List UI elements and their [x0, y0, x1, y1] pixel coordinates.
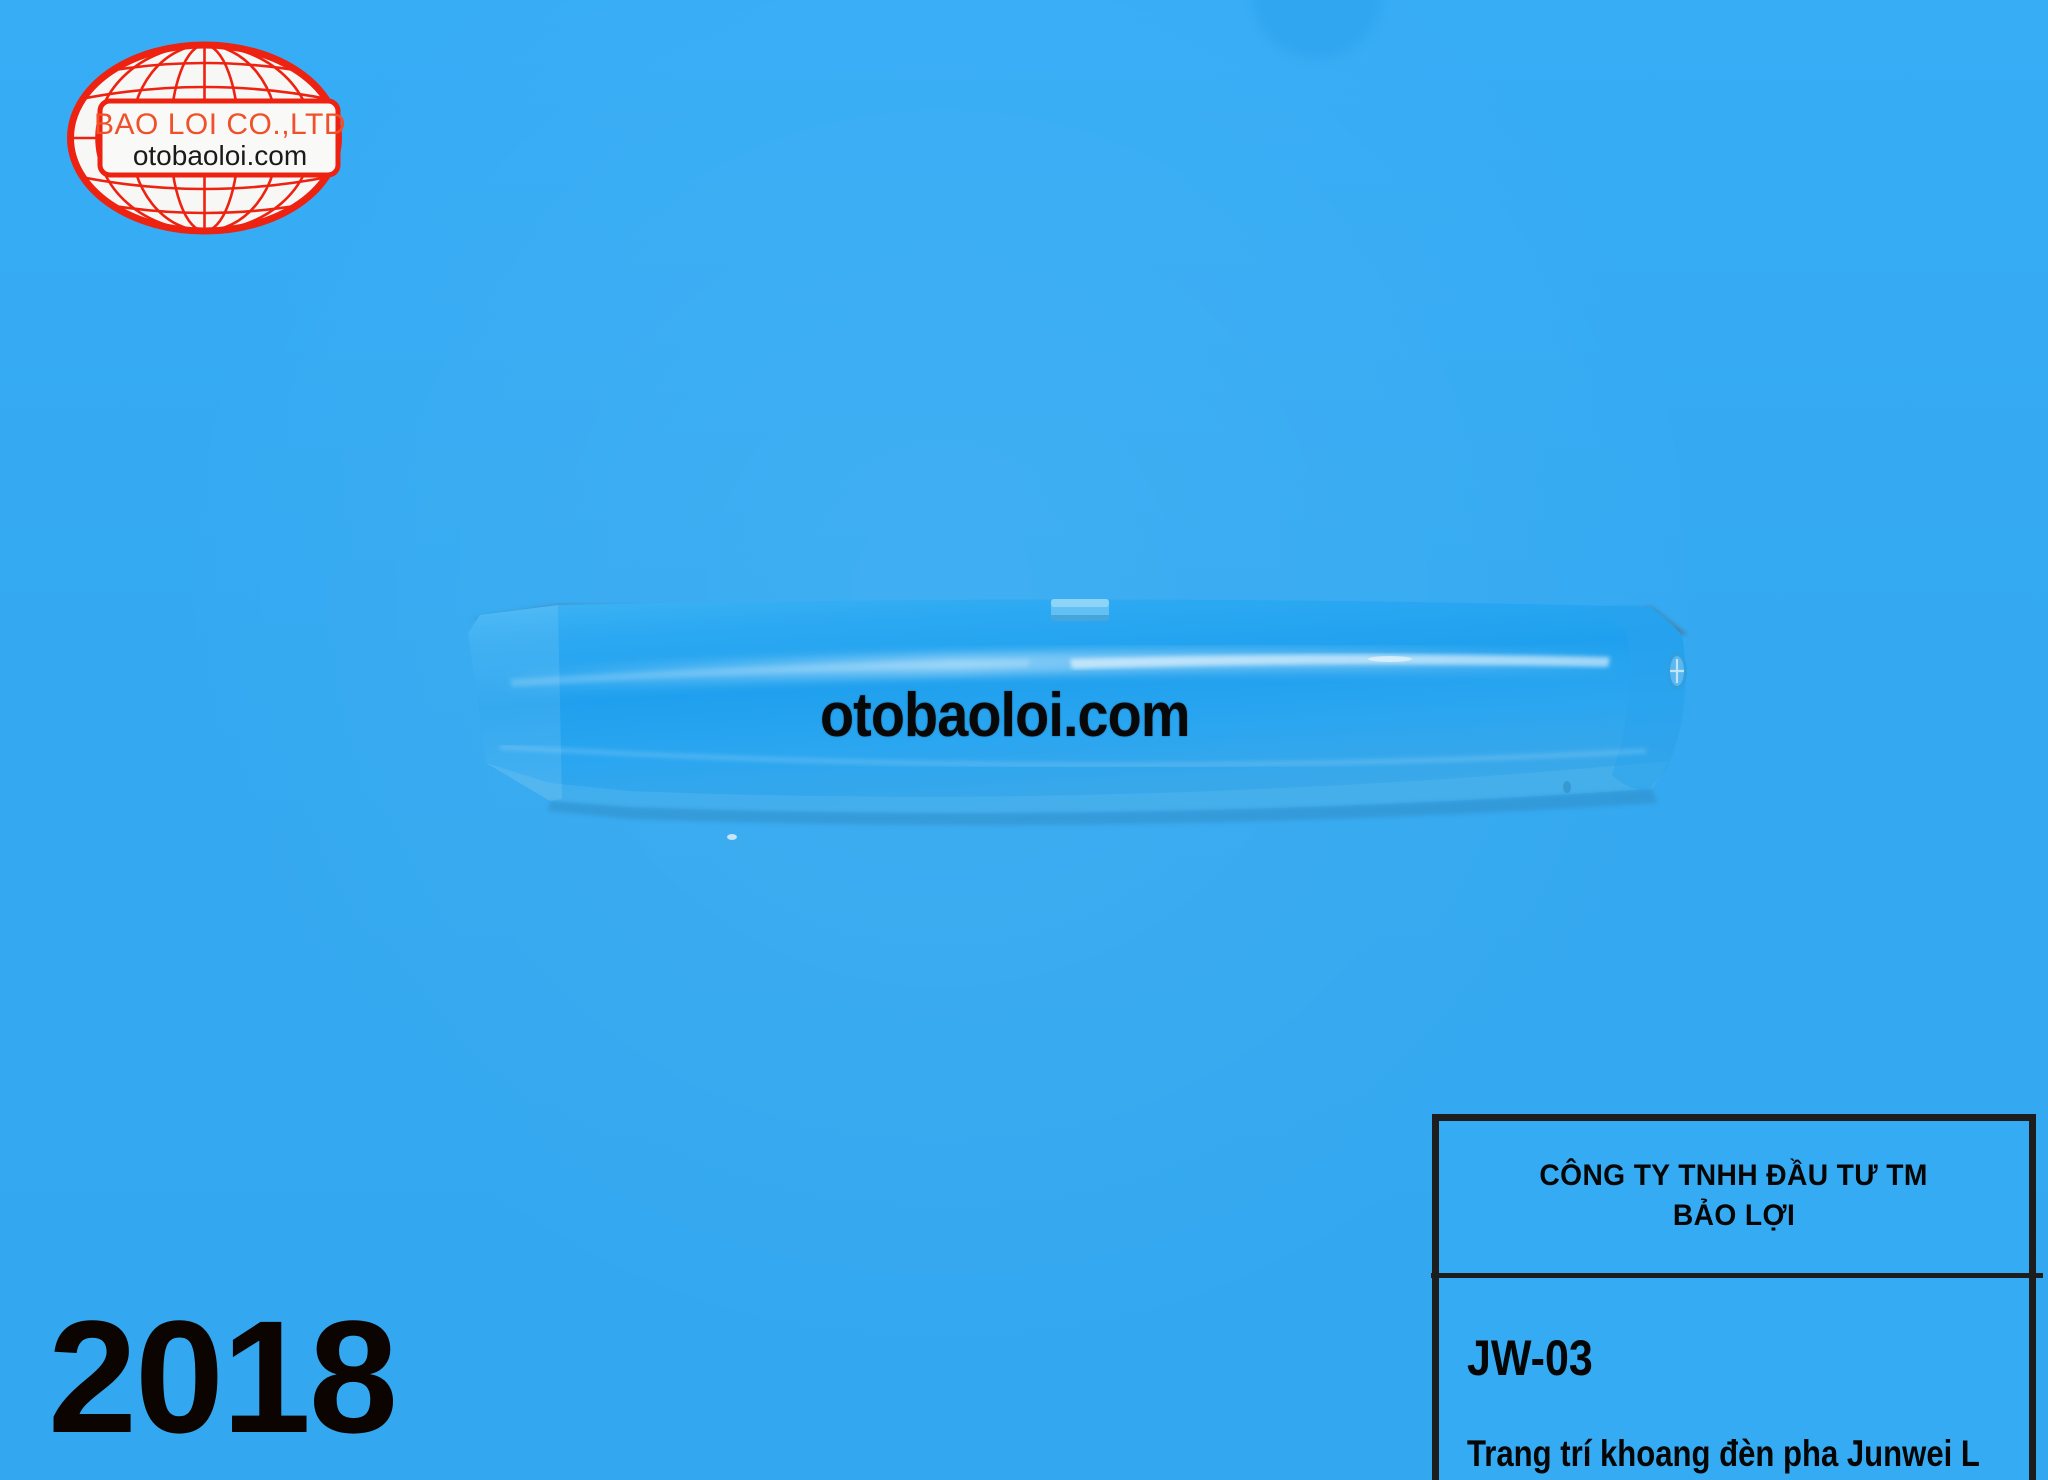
- panel-scuff-3: [1368, 656, 1412, 662]
- watermark-text: otobaoloi.com: [820, 680, 1190, 751]
- logo-company-text: BAO LOI CO.,LTD: [94, 108, 346, 141]
- product-info-box: CÔNG TY TNHH ĐẦU TƯ TM BẢO LỢI JW-03 Tra…: [1432, 1114, 2036, 1480]
- panel-center-clip: [1051, 599, 1109, 621]
- info-box-header: CÔNG TY TNHH ĐẦU TƯ TM BẢO LỢI: [1439, 1121, 2029, 1249]
- info-box-body: JW-03 Trang trí khoang đèn pha Junwei L: [1439, 1273, 2029, 1480]
- company-name-line-2: BẢO LỢI: [1673, 1199, 1795, 1233]
- year-label: 2018: [48, 1297, 396, 1457]
- company-logo[interactable]: BAO LOI CO.,LTD otobaoloi.com: [62, 38, 347, 238]
- part-description: Trang trí khoang đèn pha Junwei L: [1467, 1433, 1939, 1475]
- panel-bolt-hole: [1667, 652, 1687, 690]
- panel-scuff-1: [727, 834, 737, 840]
- part-code: JW-03: [1467, 1329, 1950, 1387]
- logo-website-text: otobaoloi.com: [133, 140, 307, 171]
- product-photo-page: BAO LOI CO.,LTD otobaoloi.com: [0, 0, 2048, 1480]
- company-name-line-1: CÔNG TY TNHH ĐẦU TƯ TM: [1540, 1159, 1928, 1193]
- panel-scuff-2: [1563, 781, 1571, 793]
- panel-left-facet: [468, 605, 562, 801]
